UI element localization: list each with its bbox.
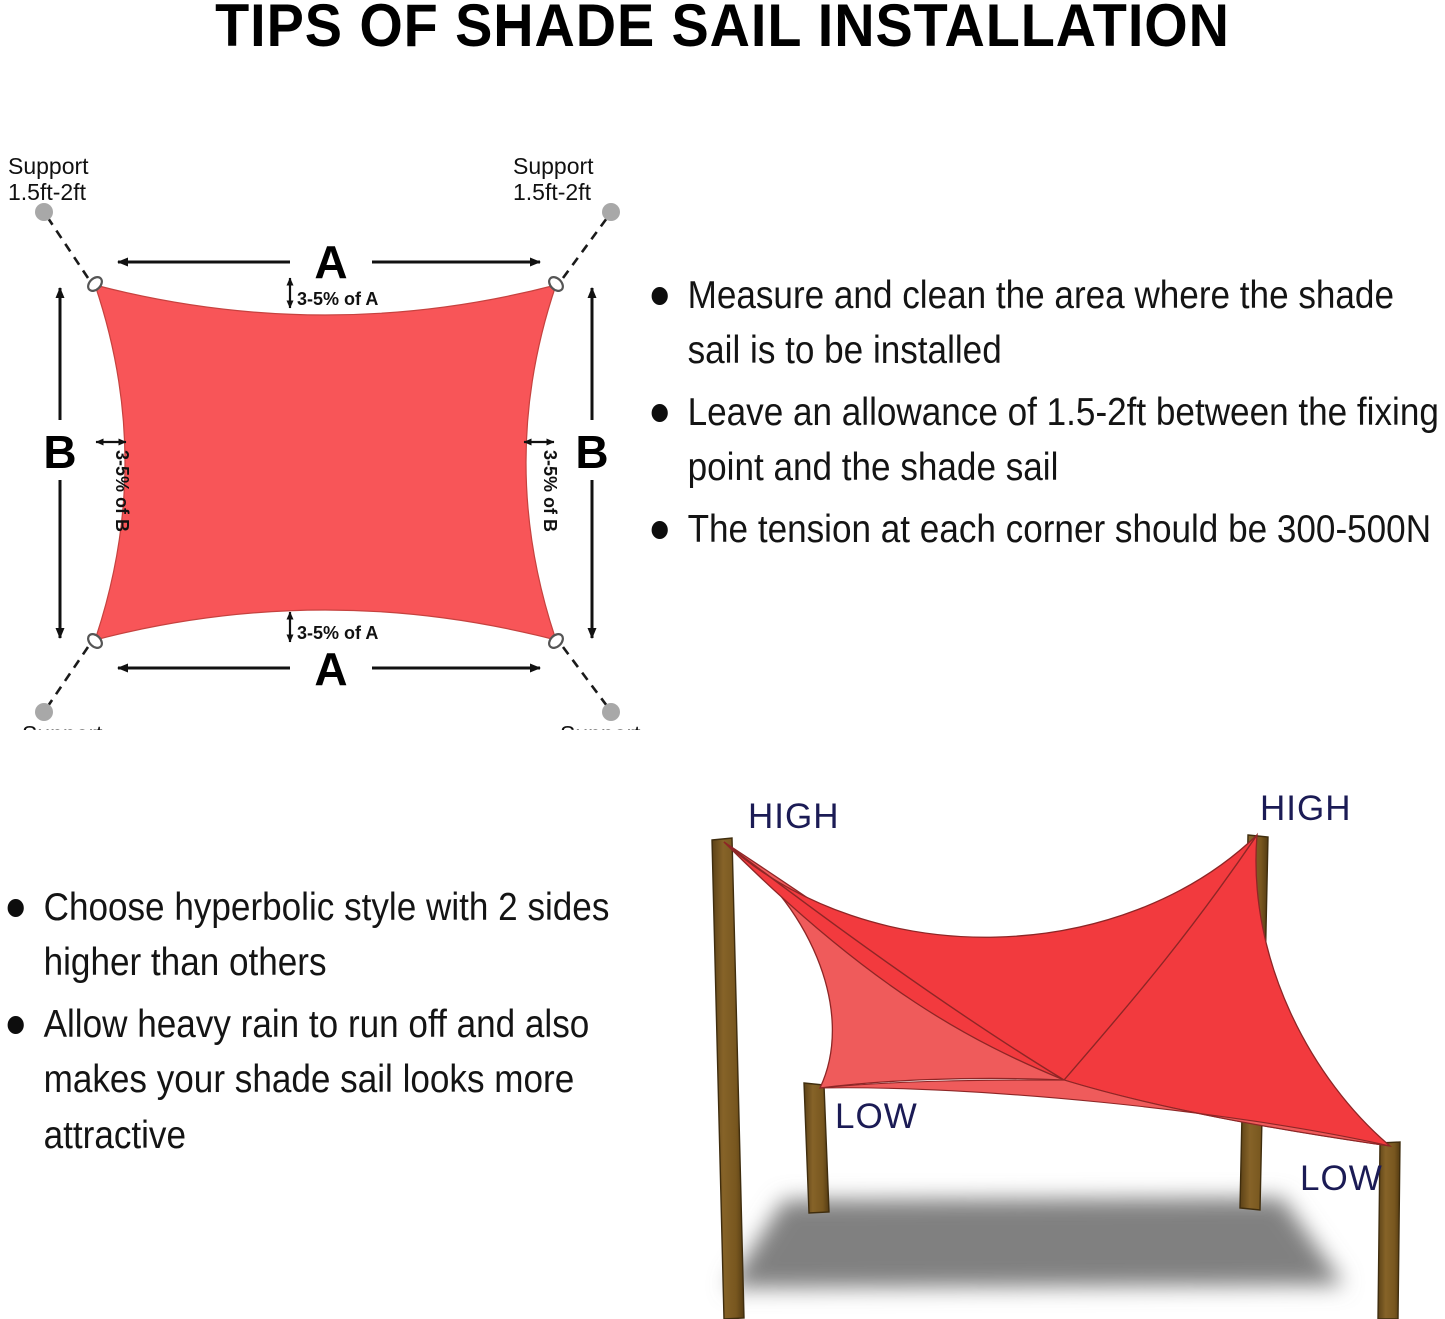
label-high-left: HIGH bbox=[748, 797, 840, 836]
bullet-icon bbox=[652, 287, 668, 305]
hyperbolic-style-tips-list: Choose hyperbolic style with 2 sides hig… bbox=[4, 880, 704, 1169]
hyperbolic-sail-diagram: HIGH HIGH LOW LOW bbox=[672, 780, 1445, 1319]
post-front-left bbox=[804, 1083, 829, 1213]
svg-text:Support: Support bbox=[560, 721, 641, 730]
list-item: Measure and clean the area where the sha… bbox=[648, 268, 1440, 379]
list-item: Allow heavy rain to run off and also mak… bbox=[4, 997, 634, 1163]
svg-text:1.5ft-2ft: 1.5ft-2ft bbox=[513, 179, 592, 205]
sail-shape bbox=[95, 285, 556, 640]
bullet-icon bbox=[652, 521, 668, 539]
support-line-bottom-right bbox=[563, 647, 607, 706]
tip-text: Allow heavy rain to run off and also mak… bbox=[44, 1003, 590, 1157]
support-dot-bottom-left bbox=[35, 703, 53, 721]
svg-text:Support: Support bbox=[513, 153, 594, 179]
rectangular-sail-diagram: Support 1.5ft-2ft Support 1.5ft-2ft Supp… bbox=[0, 150, 660, 730]
label-high-right: HIGH bbox=[1260, 789, 1352, 828]
support-dot-top-right bbox=[602, 203, 620, 221]
svg-text:1.5ft-2ft: 1.5ft-2ft bbox=[8, 179, 87, 205]
page-title: TIPS OF SHADE SAIL INSTALLATION bbox=[51, 0, 1395, 56]
curve-label-bottom: 3-5% of A bbox=[297, 623, 378, 643]
svg-text:Support: Support bbox=[22, 721, 103, 730]
post-back-left bbox=[712, 838, 744, 1319]
dimension-letter-right-b: B bbox=[575, 426, 608, 478]
label-low-right: LOW bbox=[1300, 1159, 1383, 1198]
support-label-top-right: Support 1.5ft-2ft bbox=[513, 153, 594, 205]
bullet-icon bbox=[8, 1016, 24, 1034]
dimension-letter-left-b: B bbox=[43, 426, 76, 478]
installation-tips-list: Measure and clean the area where the sha… bbox=[648, 268, 1445, 563]
support-line-bottom-left bbox=[48, 647, 88, 706]
bullet-icon bbox=[652, 404, 668, 422]
list-item: The tension at each corner should be 300… bbox=[648, 502, 1440, 557]
tip-text: Leave an allowance of 1.5-2ft between th… bbox=[688, 391, 1439, 489]
curve-label-top: 3-5% of A bbox=[297, 289, 378, 309]
tip-text: The tension at each corner should be 300… bbox=[688, 508, 1431, 551]
tip-text: Choose hyperbolic style with 2 sides hig… bbox=[44, 886, 610, 984]
dimension-letter-top-a: A bbox=[314, 236, 347, 288]
curve-label-left: 3-5% of B bbox=[112, 450, 132, 532]
list-item: Leave an allowance of 1.5-2ft between th… bbox=[648, 385, 1440, 496]
support-line-top-right bbox=[563, 218, 607, 278]
bullet-icon bbox=[8, 899, 24, 917]
list-item: Choose hyperbolic style with 2 sides hig… bbox=[4, 880, 634, 991]
support-dot-top-left bbox=[35, 203, 53, 221]
support-line-top-left bbox=[48, 218, 88, 278]
svg-text:Support: Support bbox=[8, 153, 89, 179]
label-low-left: LOW bbox=[835, 1097, 918, 1136]
dimension-letter-bottom-a: A bbox=[314, 643, 347, 695]
support-label-bottom-left: Support 1.5ft-2ft bbox=[22, 721, 103, 730]
support-label-bottom-right: Support 1.5ft-2ft bbox=[560, 721, 641, 730]
support-dot-bottom-right bbox=[602, 703, 620, 721]
tip-text: Measure and clean the area where the sha… bbox=[688, 274, 1394, 372]
support-label-top-left: Support 1.5ft-2ft bbox=[8, 153, 89, 205]
curve-label-right: 3-5% of B bbox=[540, 450, 560, 532]
